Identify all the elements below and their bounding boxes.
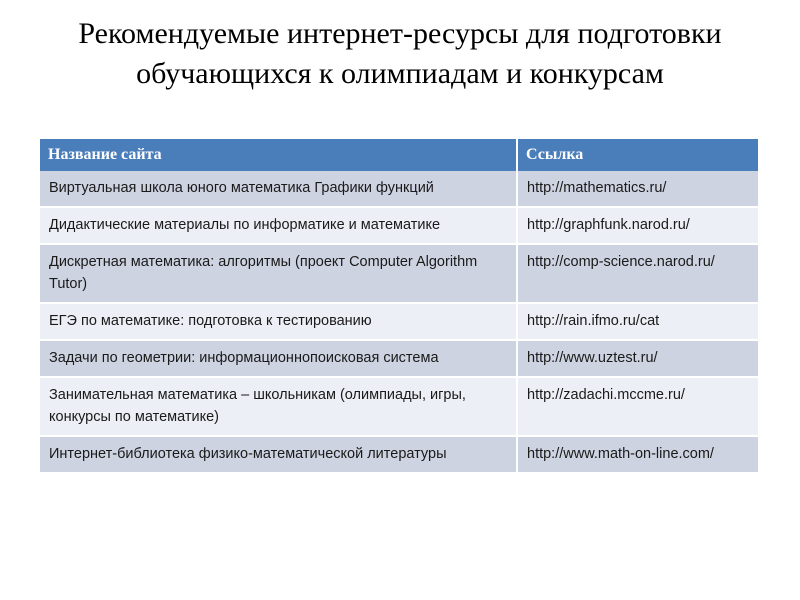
table-body: Виртуальная школа юного математика Графи… (40, 171, 758, 472)
cell-site-link[interactable]: http://comp-science.narod.ru/ (517, 244, 758, 303)
cell-site-name: Занимательная математика – школьникам (о… (40, 377, 517, 436)
table-header: Название сайта Ссылка (40, 139, 758, 171)
table-header-row: Название сайта Ссылка (40, 139, 758, 171)
table-row: Дискретная математика: алгоритмы (проект… (40, 244, 758, 303)
cell-site-link[interactable]: http://mathematics.ru/ (517, 171, 758, 207)
cell-site-link[interactable]: http://graphfunk.narod.ru/ (517, 207, 758, 244)
table-row: Задачи по геометрии: информационнопоиско… (40, 340, 758, 377)
slide-canvas: Рекомендуемые интернет-ресурсы для подго… (0, 0, 800, 600)
cell-site-name: ЕГЭ по математике: подготовка к тестиров… (40, 303, 517, 340)
cell-site-link[interactable]: http://www.uztest.ru/ (517, 340, 758, 377)
table-row: Интернет-библиотека физико-математическо… (40, 436, 758, 472)
cell-site-link[interactable]: http://rain.ifmo.ru/cat (517, 303, 758, 340)
cell-site-name: Интернет-библиотека физико-математическо… (40, 436, 517, 472)
cell-site-link[interactable]: http://zadachi.mccme.ru/ (517, 377, 758, 436)
resources-table: Название сайта Ссылка Виртуальная школа … (40, 139, 758, 472)
table-row: ЕГЭ по математике: подготовка к тестиров… (40, 303, 758, 340)
page-title: Рекомендуемые интернет-ресурсы для подго… (60, 14, 740, 94)
table-row: Виртуальная школа юного математика Графи… (40, 171, 758, 207)
table-row: Дидактические материалы по информатике и… (40, 207, 758, 244)
cell-site-name: Дидактические материалы по информатике и… (40, 207, 517, 244)
table-row: Занимательная математика – школьникам (о… (40, 377, 758, 436)
cell-site-link[interactable]: http://www.math-on-line.com/ (517, 436, 758, 472)
cell-site-name: Виртуальная школа юного математика Графи… (40, 171, 517, 207)
cell-site-name: Задачи по геометрии: информационнопоиско… (40, 340, 517, 377)
column-header-link: Ссылка (517, 139, 758, 171)
column-header-site-name: Название сайта (40, 139, 517, 171)
cell-site-name: Дискретная математика: алгоритмы (проект… (40, 244, 517, 303)
